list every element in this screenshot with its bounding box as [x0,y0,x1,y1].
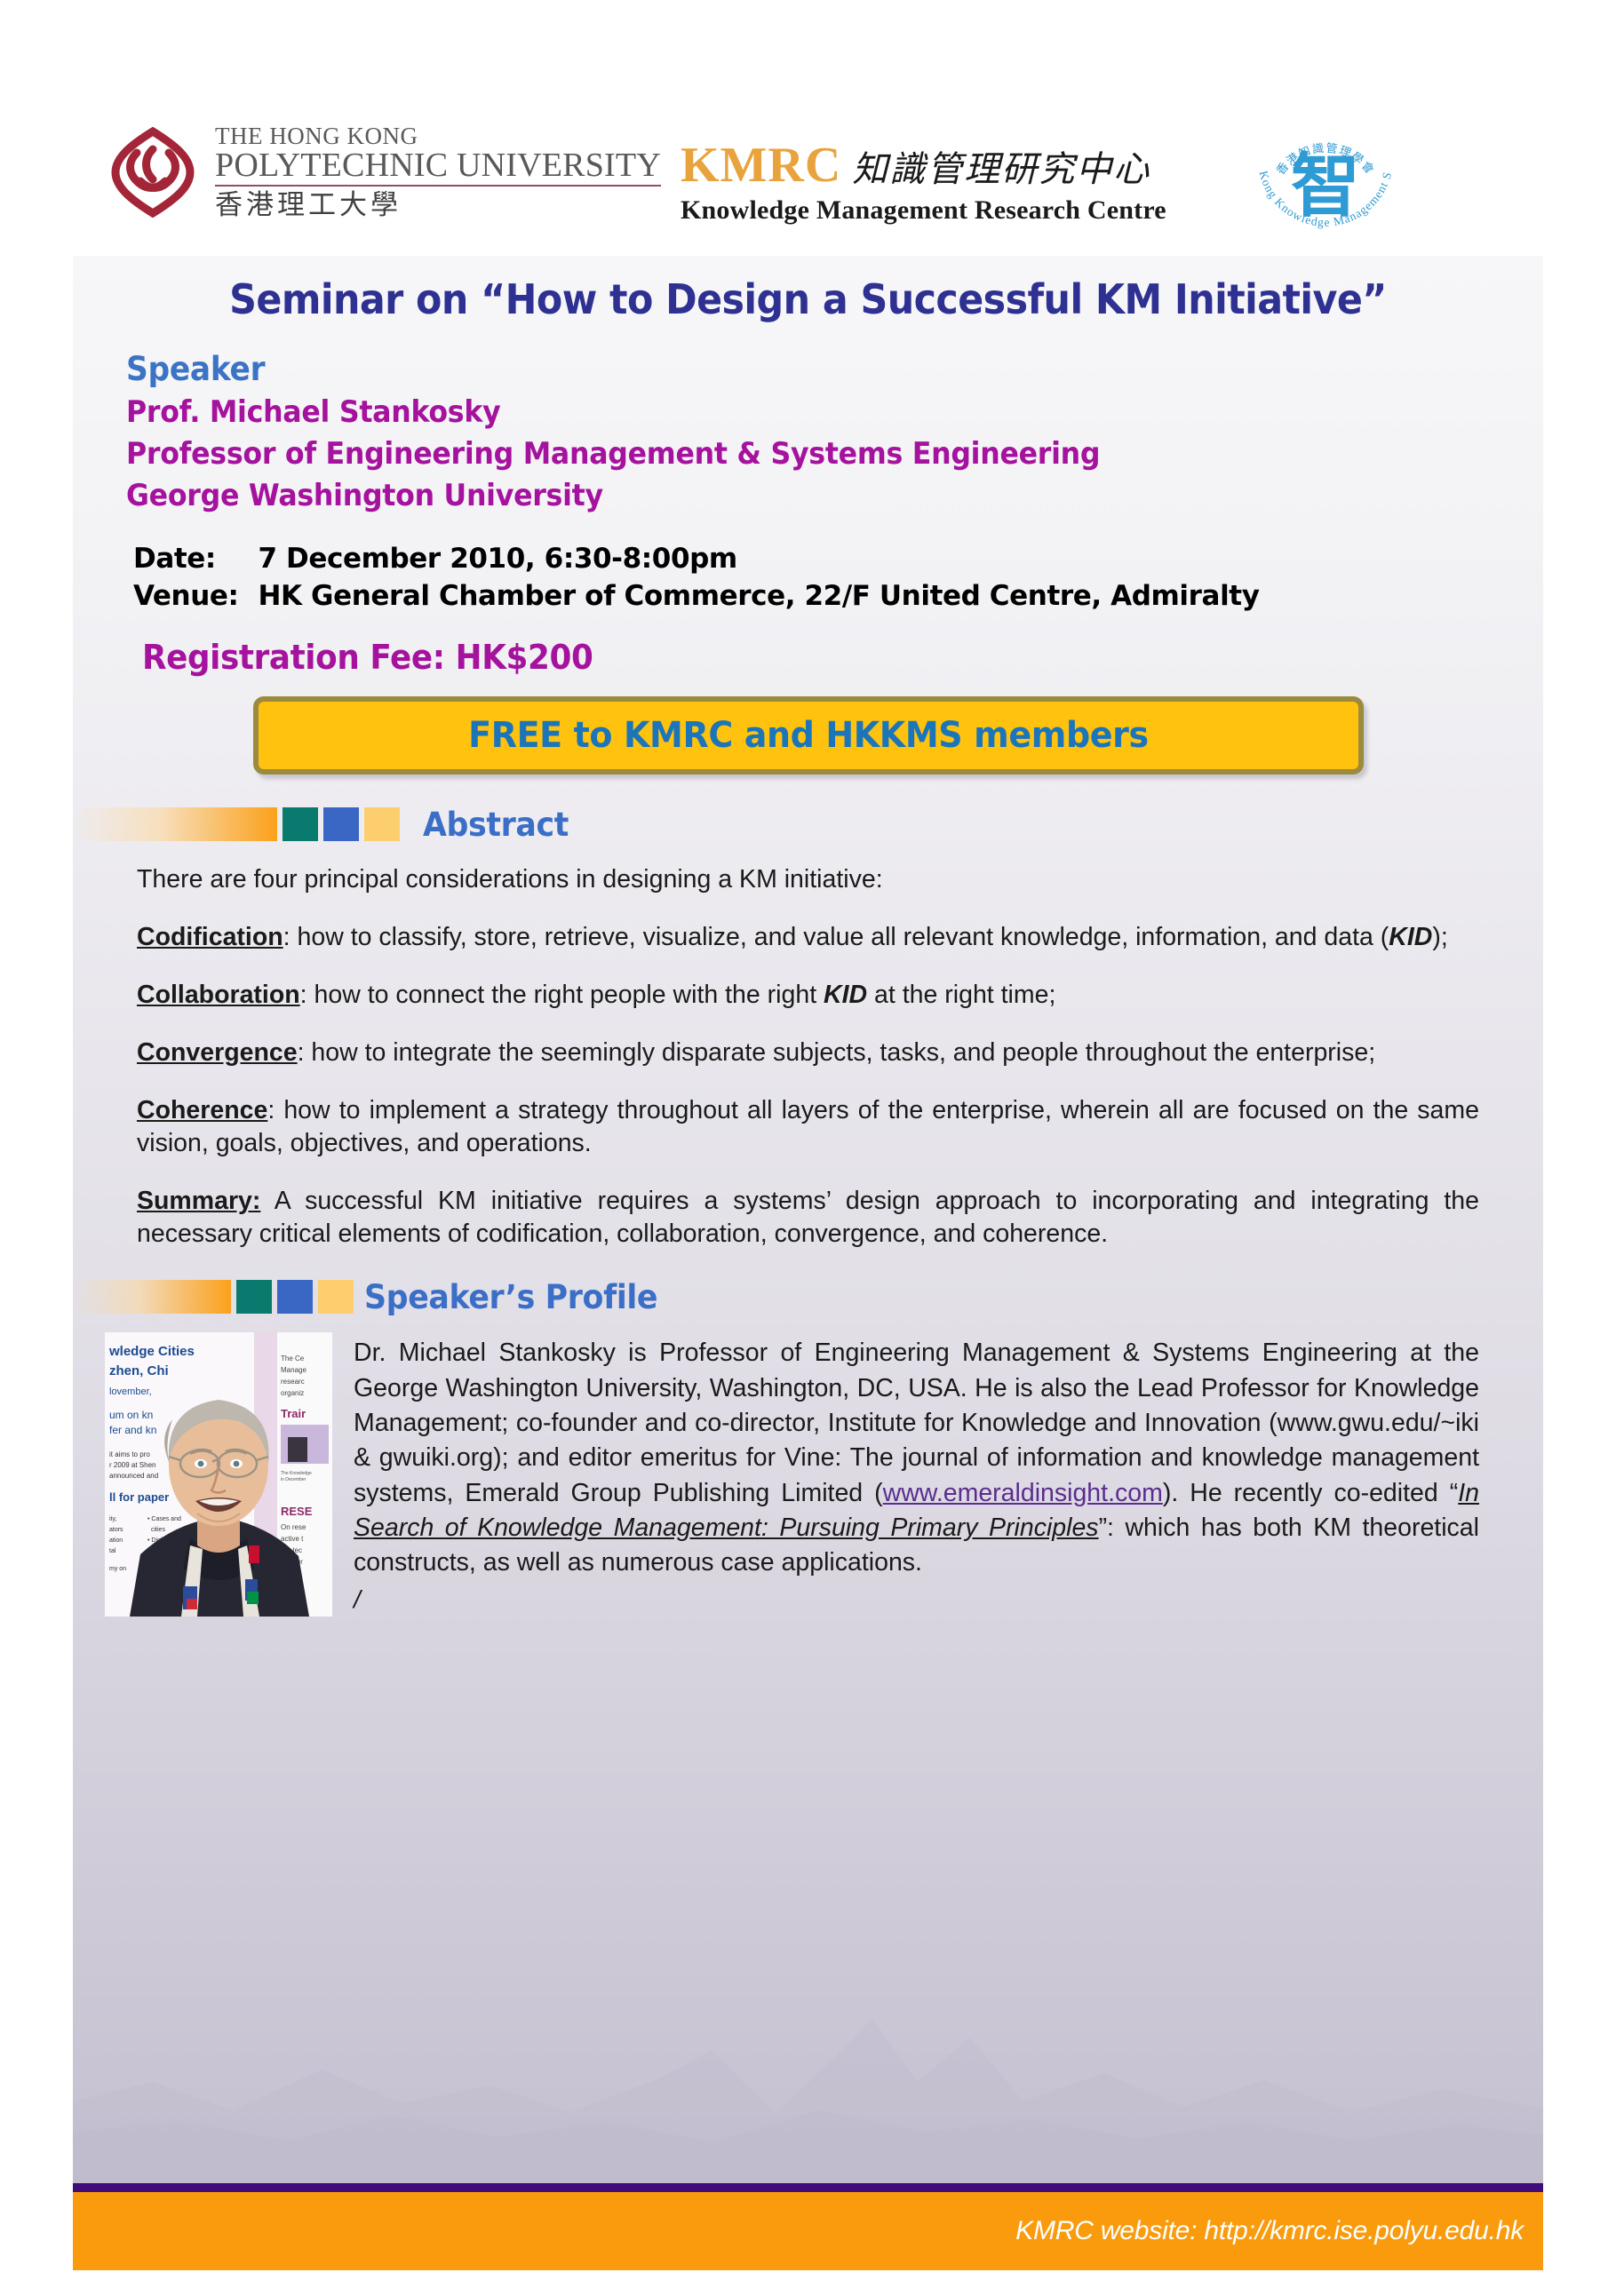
footer-website-text: KMRC website: http://kmrc.ise.polyu.edu.… [1015,2216,1543,2246]
teal-square-icon [236,1280,272,1314]
polyu-line1: The Hong Kong [215,124,661,148]
cream-square-icon [364,807,400,841]
abstract-heading: Abstract [423,806,569,844]
free-members-banner-label: FREE to KMRC and HKKMS members [468,715,1149,756]
svg-text:r 2009 at Shen: r 2009 at Shen [109,1461,155,1469]
date-value: 7 December 2010, 6:30-8:00pm [258,540,1259,577]
abstract-item-coherence: Coherence: how to implement a strategy t… [137,1094,1479,1160]
speaker-heading: Speaker [126,350,1444,388]
stray-character: / [354,1583,1479,1617]
content-panel: Seminar on “How to Design a Successful K… [73,256,1543,2183]
profile-paragraph-2: ). He recently co-edited “ [1163,1479,1458,1507]
speaker-photo: wledge Cities zhen, Chi lovember, um on … [105,1332,332,1617]
collaboration-text-after: at the right time; [867,981,1055,1009]
svg-text:in December: in December [281,1477,306,1482]
hkkms-logo: 香港知識管理學會 Hong Kong Knowledge Management … [1246,105,1405,260]
svg-text:lovember,: lovember, [109,1386,152,1397]
abstract-item-codification: Codification: how to classify, store, re… [137,921,1479,954]
term-convergence: Convergence [137,1038,298,1067]
speaker-name: Prof. Michael Stankosky [126,394,1444,430]
svg-text:researc: researc [281,1378,305,1386]
polyu-knot-logo-icon [107,126,199,218]
abstract-item-collaboration: Collaboration: how to connect the right … [137,979,1479,1012]
svg-text:• Cases and: • Cases and [147,1516,181,1522]
svg-text:ity,: ity, [109,1516,116,1522]
venue-row: Venue: HK General Chamber of Commerce, 2… [133,577,1260,615]
polyu-logo: The Hong Kong Polytechnic University 香港理… [107,124,661,219]
term-collaboration: Collaboration [137,981,300,1009]
blue-square-icon [277,1280,313,1314]
page-title: Seminar on “How to Design a Successful K… [124,275,1492,323]
term-summary: Summary: [137,1187,260,1215]
svg-text:Manage: Manage [281,1366,306,1374]
kmrc-chinese-name: 知識管理研究中心 [852,152,1150,187]
orange-gradient-bar-icon [73,1280,231,1314]
profile-heading: Speaker’s Profile [364,1278,657,1316]
abstract-item-convergence: Convergence: how to integrate the seemin… [137,1037,1479,1069]
codification-emphasis: KID [1389,923,1432,951]
svg-text:On rese: On rese [281,1523,306,1531]
coherence-text: : how to implement a strategy throughout… [137,1096,1479,1157]
svg-text:智: 智 [1291,147,1360,226]
abstract-intro: There are four principal considerations … [137,863,1479,896]
collaboration-text-before: : how to connect the right people with t… [300,981,824,1009]
collaboration-emphasis: KID [824,981,867,1009]
event-details-table: Date: 7 December 2010, 6:30-8:00pm Venue… [133,540,1260,615]
codification-text-before: : how to classify, store, retrieve, visu… [283,923,1389,951]
abstract-section-header: Abstract [73,805,1543,844]
panel-inner: Seminar on “How to Design a Successful K… [73,275,1543,1617]
svg-text:The Knowledge: The Knowledge [281,1471,312,1476]
registration-fee: Registration Fee: HK$200 [142,638,1459,677]
svg-text:it aims to pro: it aims to pro [109,1450,150,1458]
speaker-block: Speaker Prof. Michael Stankosky Professo… [126,350,1543,513]
speaker-position: Professor of Engineering Management & Sy… [126,436,1444,472]
profile-section: wledge Cities zhen, Chi lovember, um on … [105,1332,1479,1617]
venue-value: HK General Chamber of Commerce, 22/F Uni… [258,577,1259,615]
abstract-body: There are four principal considerations … [137,863,1479,1251]
blue-square-icon [323,807,359,841]
speaker-affiliation: George Washington University [126,478,1444,513]
logo-strip: The Hong Kong Polytechnic University 香港理… [0,0,1616,258]
term-codification: Codification [137,923,283,951]
profile-section-header: Speaker’s Profile [73,1277,1543,1316]
venue-label: Venue: [133,577,258,615]
convergence-text: : how to integrate the seemingly dispara… [298,1038,1376,1067]
svg-text:tal: tal [109,1548,116,1554]
svg-text:organiz: organiz [281,1389,304,1397]
kmrc-full-name: Knowledge Management Research Centre [681,195,1166,226]
svg-text:wledge Cities: wledge Cities [108,1344,195,1359]
footer-bar: KMRC website: http://kmrc.ise.polyu.edu.… [73,2192,1543,2270]
date-label: Date: [133,540,258,577]
polyu-chinese-name: 香港理工大學 [215,192,661,219]
svg-text:ll for paper: ll for paper [109,1490,169,1504]
footer-divider [73,2183,1543,2192]
svg-text:um on kn: um on kn [109,1409,153,1421]
svg-text:announced and: announced and [109,1472,158,1480]
svg-text:Trair: Trair [281,1407,306,1420]
svg-text:ators: ators [109,1527,123,1533]
seminar-poster: The Hong Kong Polytechnic University 香港理… [0,0,1616,2296]
svg-text:active t: active t [281,1535,304,1543]
svg-text:fer and kn: fer and kn [109,1424,156,1436]
mountain-watermark-graphic [73,1997,1543,2183]
teal-square-icon [283,807,318,841]
profile-text: Dr. Michael Stankosky is Professor of En… [354,1332,1479,1617]
svg-text:RESE: RESE [281,1505,313,1518]
svg-text:ation: ation [109,1537,123,1544]
svg-text:cities: cities [151,1527,165,1533]
kmrc-logo: KMRC 知識管理研究中心 Knowledge Management Resea… [681,140,1166,226]
emerald-insight-link[interactable]: www.emeraldinsight.com [883,1479,1163,1507]
orange-gradient-bar-icon [73,807,277,841]
free-members-banner: FREE to KMRC and HKKMS members [253,696,1364,775]
polyu-wordmark: The Hong Kong Polytechnic University 香港理… [215,124,661,219]
polyu-line2: Polytechnic University [215,148,661,187]
term-coherence: Coherence [137,1096,267,1124]
svg-text:The Ce: The Ce [281,1355,305,1363]
date-row: Date: 7 December 2010, 6:30-8:00pm [133,540,1260,577]
cream-square-icon [318,1280,354,1314]
svg-text:my on: my on [109,1566,126,1572]
summary-text: A successful KM initiative requires a sy… [137,1187,1479,1248]
codification-text-after: ); [1432,923,1447,951]
abstract-summary: Summary: A successful KM initiative requ… [137,1185,1479,1251]
kmrc-abbreviation: KMRC [681,140,841,190]
svg-text:zhen, Chi: zhen, Chi [109,1363,169,1378]
kmrc-logo-top-row: KMRC 知識管理研究中心 [681,140,1166,190]
